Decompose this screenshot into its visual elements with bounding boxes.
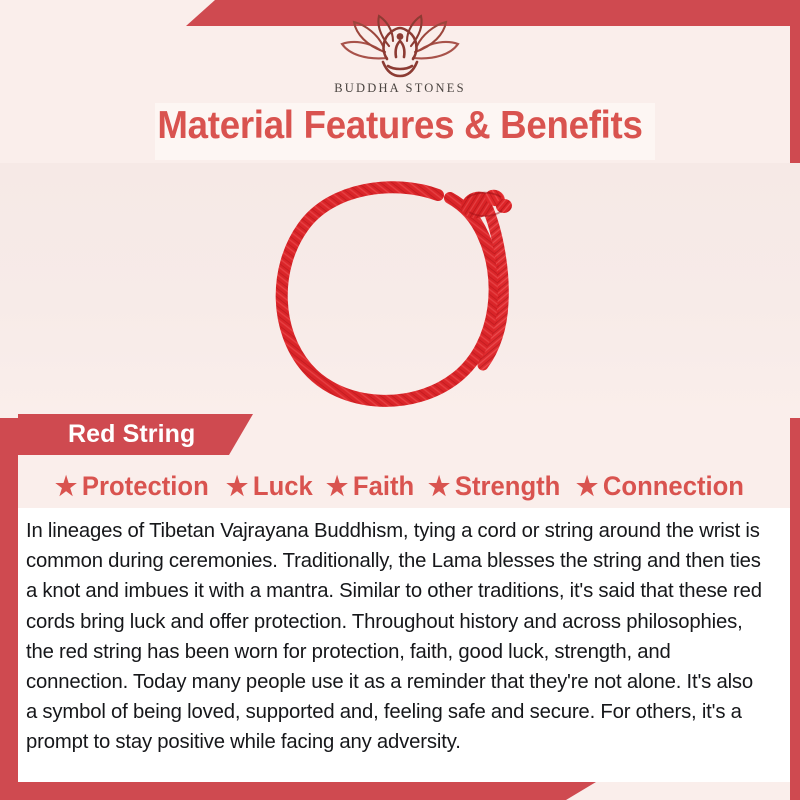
- lotus-meditation-figure-icon: [325, 14, 475, 80]
- star-icon: ★: [576, 473, 598, 499]
- product-hero-section: [0, 163, 800, 418]
- star-icon: ★: [326, 473, 348, 499]
- star-icon: ★: [226, 473, 248, 499]
- description-panel: In lineages of Tibetan Vajrayana Buddhis…: [18, 508, 790, 782]
- star-icon: ★: [55, 473, 77, 499]
- list-item: ★ Faith: [326, 471, 414, 502]
- list-item: ★ Luck: [226, 471, 313, 502]
- page-title: Material Features & Benefits: [24, 104, 776, 148]
- list-item: ★ Strength: [428, 471, 560, 502]
- red-string-braided-bracelet-icon: [245, 165, 555, 418]
- benefits-list: ★ Protection ★ Luck ★ Faith ★ Strength ★…: [18, 466, 790, 506]
- benefit-label: Strength: [455, 471, 560, 502]
- star-icon: ★: [428, 473, 450, 499]
- benefit-label: Connection: [603, 471, 744, 502]
- benefit-label: Faith: [353, 471, 414, 502]
- list-item: ★ Protection: [55, 471, 209, 502]
- infographic-page: BUDDHA STONES Material Features & Benefi…: [0, 0, 800, 800]
- brand-name: BUDDHA STONES: [334, 81, 466, 96]
- material-label: Red String: [68, 420, 195, 449]
- bottom-red-border-decoration: [0, 782, 620, 800]
- description-text: In lineages of Tibetan Vajrayana Buddhis…: [26, 516, 768, 758]
- benefit-label: Protection: [82, 471, 209, 502]
- list-item: ★ Connection: [576, 471, 744, 502]
- benefit-label: Luck: [253, 471, 313, 502]
- brand-block: BUDDHA STONES: [0, 14, 800, 104]
- left-red-border-decoration: [0, 398, 18, 800]
